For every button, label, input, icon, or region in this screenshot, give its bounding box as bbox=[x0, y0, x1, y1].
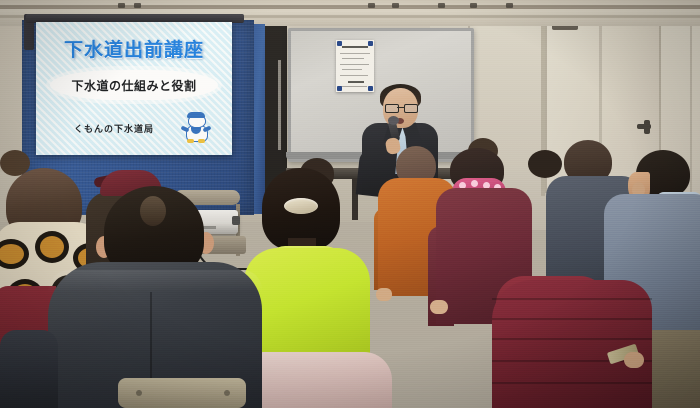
hair-part bbox=[140, 196, 166, 226]
slide-organization: くもんの下水道局 bbox=[54, 122, 174, 135]
microphone-head bbox=[388, 116, 399, 125]
ceiling-fixture bbox=[368, 3, 375, 8]
jacket-highlight bbox=[48, 270, 262, 292]
slide-subtitle: 下水道の仕組みと役割 bbox=[36, 77, 232, 94]
attendee-hand bbox=[376, 288, 392, 301]
wall-gap-highlight bbox=[278, 60, 281, 150]
posted-program-sheet bbox=[336, 40, 374, 92]
ceiling-fixture bbox=[506, 3, 513, 8]
door-lock[interactable] bbox=[644, 120, 650, 134]
dark-jacket-attendee bbox=[0, 330, 58, 408]
projected-slide: 下水道出前講座 下水道の仕組みと役割 くもんの下水道局 bbox=[36, 22, 232, 155]
ceiling-beam bbox=[0, 5, 700, 9]
ceiling-fixture bbox=[118, 3, 125, 8]
projector-lens bbox=[232, 216, 240, 225]
slide-title: 下水道出前講座 bbox=[36, 35, 232, 62]
ceiling-fixture bbox=[438, 3, 445, 8]
hair-clip bbox=[284, 198, 318, 214]
eyeglasses-icon bbox=[385, 104, 416, 111]
ceiling-fixture bbox=[134, 3, 141, 8]
attendee-hand bbox=[430, 300, 448, 314]
seminar-photograph: 下水道出前講座 下水道の仕組みと役割 くもんの下水道局 bbox=[0, 0, 700, 408]
folding-chair-back bbox=[118, 378, 246, 408]
attendee-head bbox=[528, 150, 562, 178]
ceiling-fixture bbox=[470, 3, 477, 8]
attendee-hand bbox=[624, 352, 644, 368]
wall-seam bbox=[690, 18, 692, 208]
maroon-puffer-attendee bbox=[492, 280, 652, 408]
lime-vest-woman bbox=[244, 248, 370, 366]
sewer-mascot-icon bbox=[182, 114, 210, 144]
ceiling-fixture bbox=[392, 3, 399, 8]
